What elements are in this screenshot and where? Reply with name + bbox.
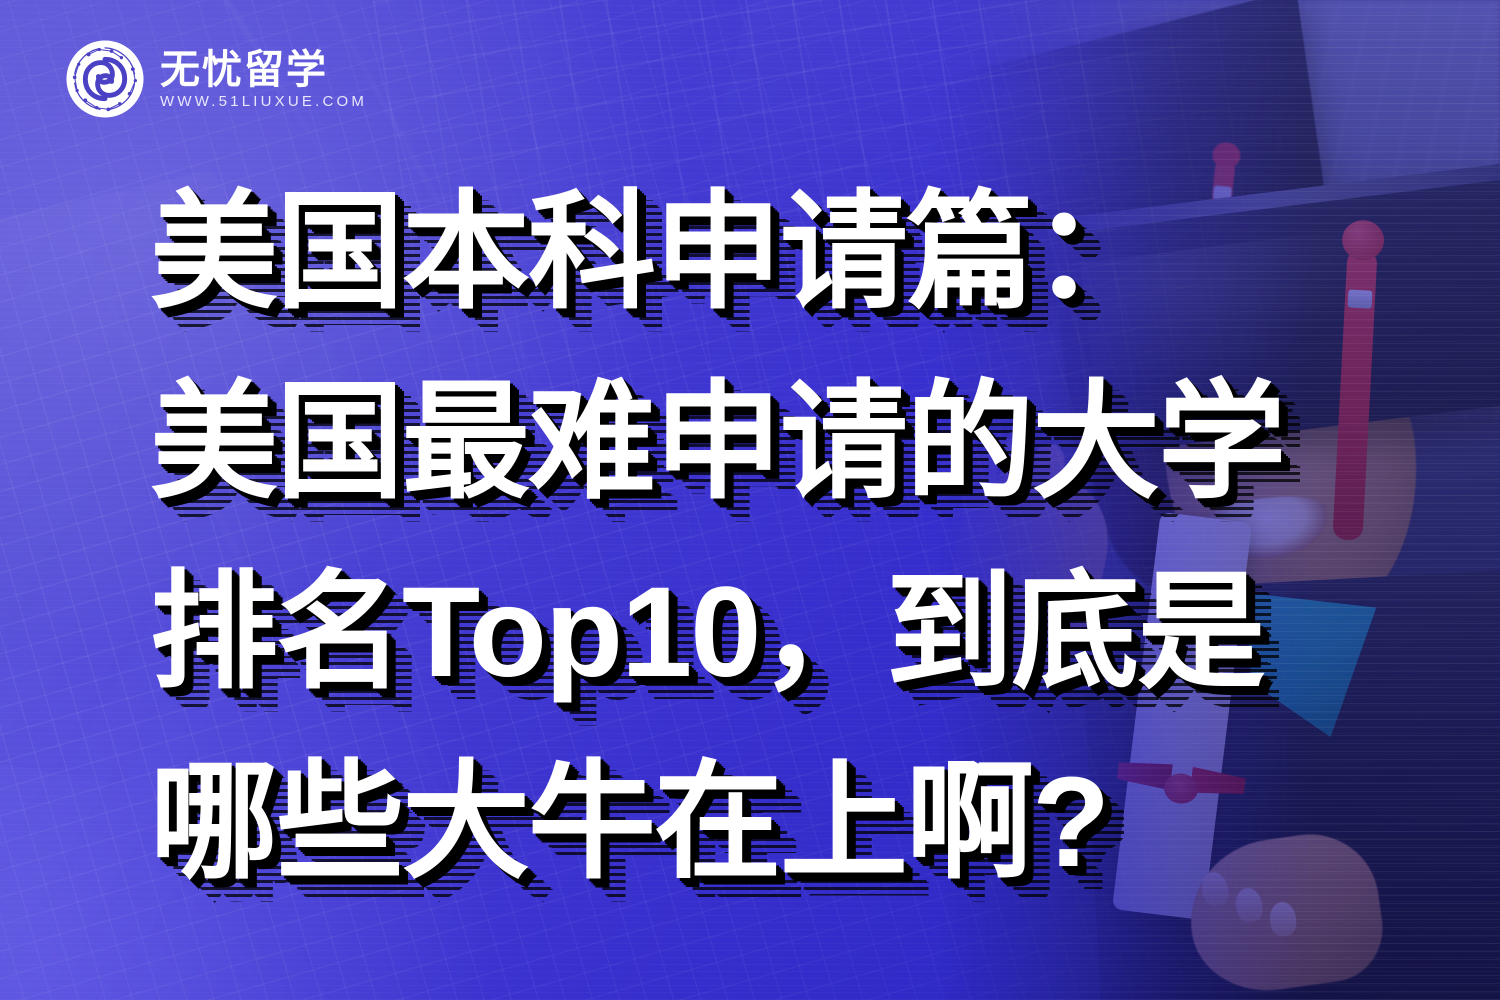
brand-logo-text: 无忧留学 WWW.51LIUXUE.COM (160, 50, 367, 109)
brand-name: 无忧留学 (160, 50, 367, 90)
spiral-galaxy-emblem-icon (64, 38, 146, 120)
brand-url: WWW.51LIUXUE.COM (160, 94, 367, 109)
poster-canvas: 无忧留学 WWW.51LIUXUE.COM 美国本科申请篇： 美国最难申请的大学… (0, 0, 1500, 1000)
brand-logo[interactable]: 无忧留学 WWW.51LIUXUE.COM (64, 38, 367, 120)
headline-line-1: 美国本科申请篇： (150, 158, 1440, 348)
headline-line-3: 排名Top10，到底是 (150, 538, 1440, 728)
headline-line-4: 哪些大牛在上啊? (150, 728, 1440, 918)
headline-block: 美国本科申请篇： 美国最难申请的大学 排名Top10，到底是 哪些大牛在上啊? (150, 158, 1440, 918)
headline-line-2: 美国最难申请的大学 (150, 348, 1440, 538)
